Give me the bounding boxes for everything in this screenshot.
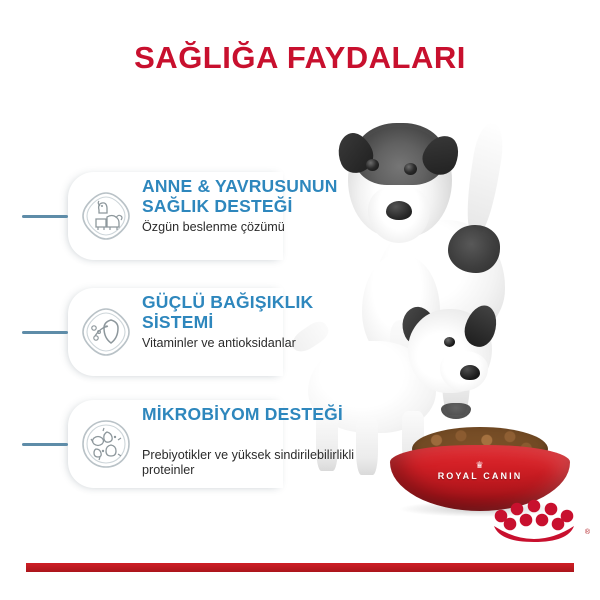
feature-title: MİKROBİYOM DESTEĞİ bbox=[142, 404, 372, 424]
adult-dog-nose bbox=[386, 201, 412, 220]
puppy-nose bbox=[460, 365, 480, 380]
page-title: SAĞLIĞA FAYDALARI bbox=[0, 40, 600, 76]
feature-subtitle: Prebiyotikler ve yüksek sindirilebilirli… bbox=[142, 448, 372, 478]
connector-line-1 bbox=[22, 215, 68, 218]
feature-title: GÜÇLÜ BAĞIŞIKLIK SİSTEMİ bbox=[142, 292, 372, 332]
adult-dog-eye-right bbox=[404, 163, 417, 175]
feature-subtitle: Özgün beslenme çözümü bbox=[142, 220, 372, 235]
connector-line-3 bbox=[22, 443, 68, 446]
royal-canin-crown-logo bbox=[486, 496, 582, 552]
shield-immunity-icon bbox=[80, 306, 132, 358]
feature-subtitle: Vitaminler ve antioksidanlar bbox=[142, 336, 372, 351]
bowl-crown-icon: ♛ bbox=[390, 461, 570, 470]
adult-dog-coat-patch bbox=[448, 225, 500, 273]
bottom-red-rule bbox=[26, 563, 574, 572]
product-infographic: SAĞLIĞA FAYDALARI bbox=[0, 0, 600, 600]
adult-dog-tail bbox=[461, 121, 506, 236]
registered-trademark-mark: ® bbox=[585, 529, 590, 536]
microbiome-bacteria-icon bbox=[80, 418, 132, 470]
connector-line-2 bbox=[22, 331, 68, 334]
feature-title: ANNE & YAVRUSUNUN SAĞLIK DESTEĞİ bbox=[142, 176, 372, 216]
puppy-eye bbox=[444, 337, 455, 347]
bowl-brand-text: ROYAL CANIN bbox=[390, 471, 570, 481]
mother-and-puppy-icon bbox=[80, 190, 132, 242]
adult-dog-eye-left bbox=[366, 159, 379, 171]
